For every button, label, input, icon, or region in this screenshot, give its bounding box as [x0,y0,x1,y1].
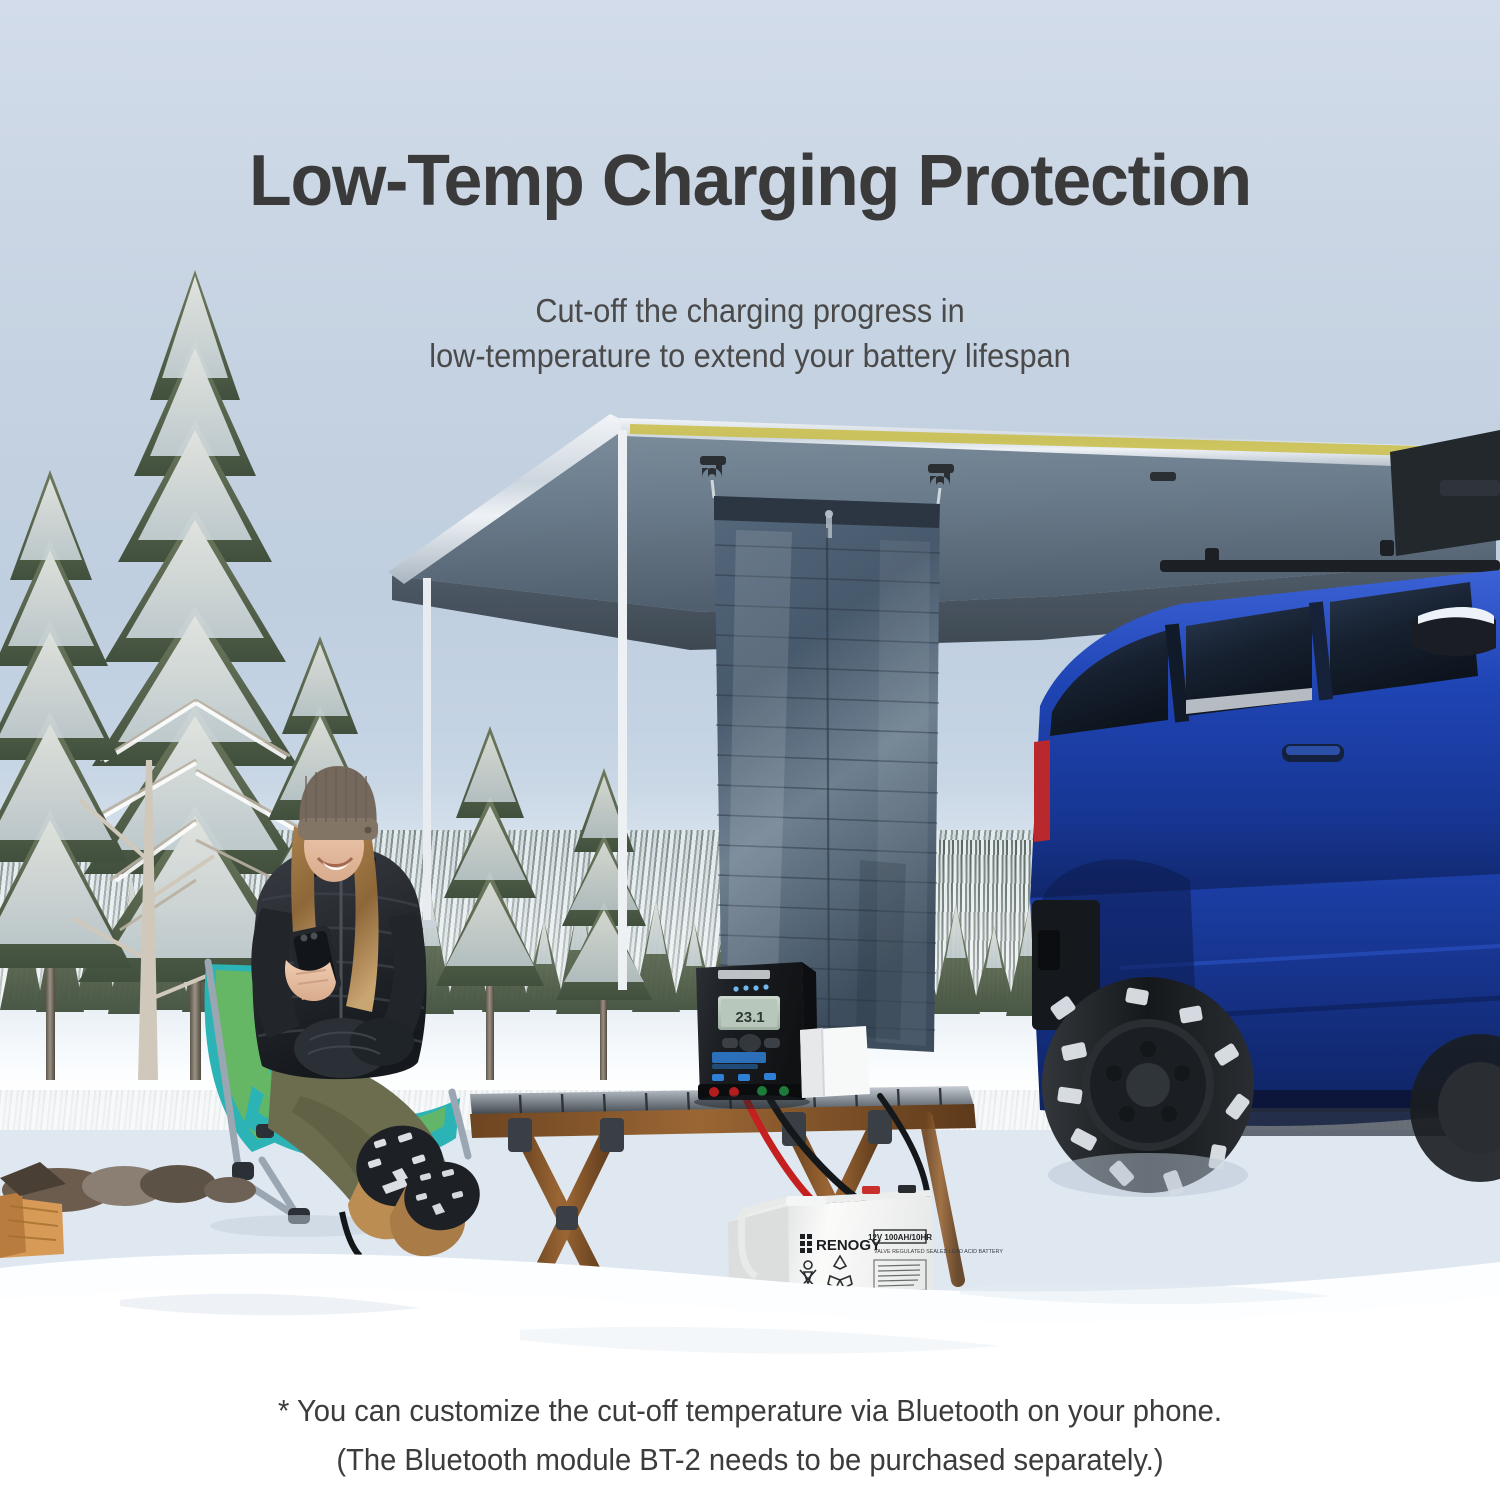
svg-text:Pb: Pb [828,1298,836,1304]
battery-handle [741,1212,756,1276]
page-subtitle: Cut-off the charging progress in low-tem… [53,288,1448,378]
campfire-ring-foreground [0,1162,256,1258]
subtitle-line-1: Cut-off the charging progress in [53,288,1448,333]
footnote-line-2: (The Bluetooth module BT-2 needs to be p… [45,1435,1455,1484]
page-title: Low-Temp Charging Protection [23,140,1478,222]
scene-canvas: 23.1 [0,0,1500,1500]
battery-hazard-icons [798,1320,893,1334]
renogy-battery: RENOGY 12V 100AH/10HR VALVE REGULATED SE… [728,1185,1003,1366]
cut-log [0,1196,64,1258]
battery-brand-text: RENOGY [816,1237,881,1254]
battery-front-face [788,1196,934,1350]
battery-side-face [728,1206,790,1350]
subtitle-line-2: low-temperature to extend your battery l… [53,333,1448,378]
person-boots [342,1114,487,1256]
page-footnote: * You can customize the cut-off temperat… [45,1386,1455,1484]
battery-subtitle-text: VALVE REGULATED SEALED LEAD ACID BATTERY [874,1249,1003,1255]
battery-top [728,1190,932,1222]
table-legs [520,1118,958,1302]
battery-spec-text: 12V 100AH/10HR [868,1233,932,1242]
snow-ridge [0,1000,1500,1090]
battery-spec-box [874,1230,926,1243]
battery-logo-mark [800,1234,812,1253]
footnote-line-1: * You can customize the cut-off temperat… [45,1386,1455,1435]
battery-safety-icons [800,1256,852,1288]
